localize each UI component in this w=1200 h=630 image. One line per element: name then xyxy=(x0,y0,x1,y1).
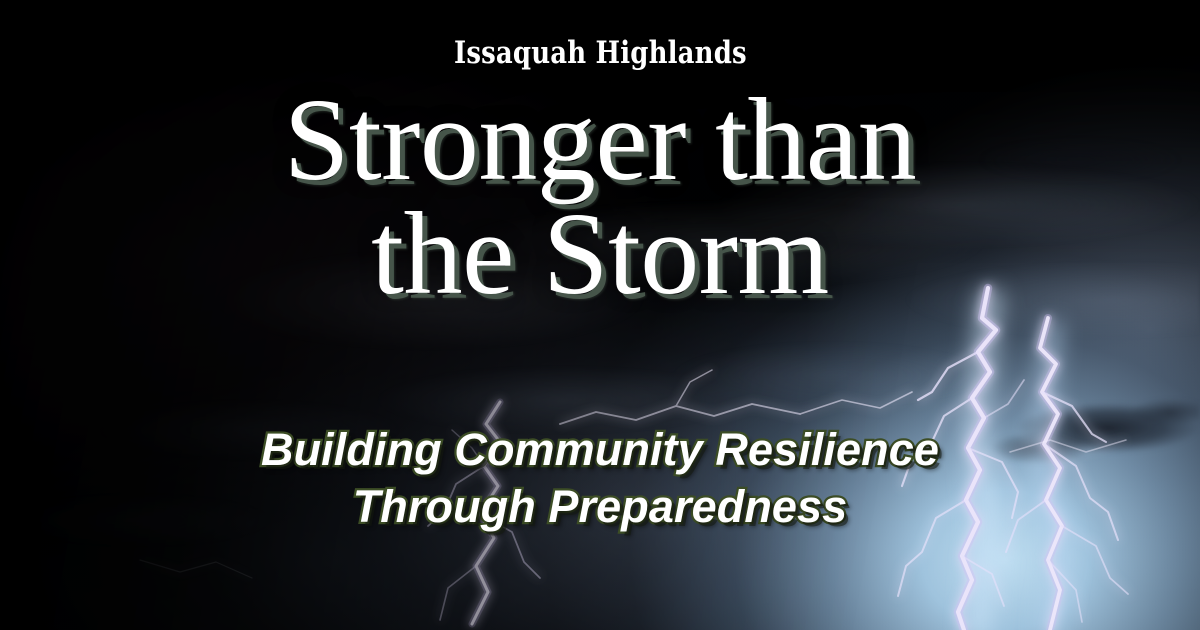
poster-content: Issaquah Highlands Stronger than the Sto… xyxy=(0,0,1200,630)
page-title: Stronger than the Storm xyxy=(284,83,917,312)
headline-line-2: the Storm xyxy=(284,197,917,311)
headline-line-1: Stronger than xyxy=(284,74,917,205)
subtitle-line-2: Through Preparedness xyxy=(261,478,939,535)
page-subtitle: Building Community Resilience Through Pr… xyxy=(261,421,939,535)
issaquah-highlands-logo: Issaquah Highlands xyxy=(454,38,747,69)
poster-canvas: Issaquah Highlands Stronger than the Sto… xyxy=(0,0,1200,630)
subtitle-line-1: Building Community Resilience xyxy=(261,421,939,478)
